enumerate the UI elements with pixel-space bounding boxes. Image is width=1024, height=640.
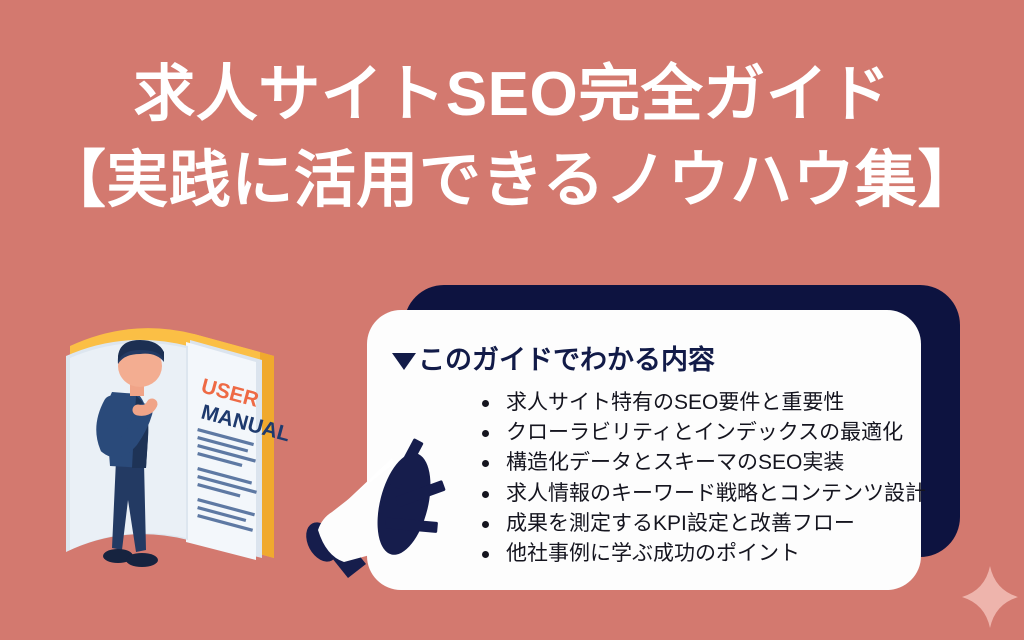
list-item: 他社事例に学ぶ成功のポイント <box>478 539 926 569</box>
list-item: クローラビリティとインデックスの最適化 <box>478 418 926 448</box>
list-item: 求人サイト特有のSEO要件と重要性 <box>478 388 926 418</box>
page-title: 求人サイトSEO完全ガイド 【実践に活用できるノウハウ集】 <box>0 52 1024 224</box>
bullet-dot-icon <box>482 491 489 498</box>
open-book-illustration: USER MANUAL <box>60 300 320 595</box>
list-item: 構造化データとスキーマのSEO実装 <box>478 448 926 478</box>
list-item-label: クローラビリティとインデックスの最適化 <box>506 421 903 444</box>
bullet-dot-icon <box>482 551 489 558</box>
bullet-dot-icon <box>482 400 489 407</box>
megaphone-svg <box>296 432 476 597</box>
slide-canvas: 求人サイトSEO完全ガイド 【実践に活用できるノウハウ集】 USER MANUA… <box>0 0 1024 640</box>
title-line-1: 求人サイトSEO完全ガイド <box>0 52 1024 138</box>
triangle-down-icon <box>392 353 416 370</box>
list-item: 求人情報のキーワード戦略とコンテンツ設計 <box>478 479 926 509</box>
bullet-dot-icon <box>482 460 489 467</box>
list-item-label: 他社事例に学ぶ成功のポイント <box>506 542 800 565</box>
sparkle-svg <box>962 566 1018 628</box>
open-book-svg: USER MANUAL <box>60 300 320 595</box>
card-heading-label: このガイドでわかる内容 <box>418 345 715 375</box>
list-item: 成果を測定するKPI設定と改善フロー <box>478 509 926 539</box>
list-item-label: 求人サイト特有のSEO要件と重要性 <box>506 391 844 414</box>
card-heading: このガイドでわかる内容 <box>392 338 715 377</box>
title-line-2: 【実践に活用できるノウハウ集】 <box>0 138 1024 224</box>
list-item-label: 構造化データとスキーマのSEO実装 <box>506 451 844 474</box>
bullet-dot-icon <box>482 430 489 437</box>
megaphone-icon <box>296 432 476 597</box>
sparkle-icon <box>962 566 1018 628</box>
bullet-dot-icon <box>482 521 489 528</box>
list-item-label: 求人情報のキーワード戦略とコンテンツ設計 <box>506 482 926 505</box>
list-item-label: 成果を測定するKPI設定と改善フロー <box>506 512 855 535</box>
guide-contents-list: 求人サイト特有のSEO要件と重要性 クローラビリティとインデックスの最適化 構造… <box>478 388 926 569</box>
